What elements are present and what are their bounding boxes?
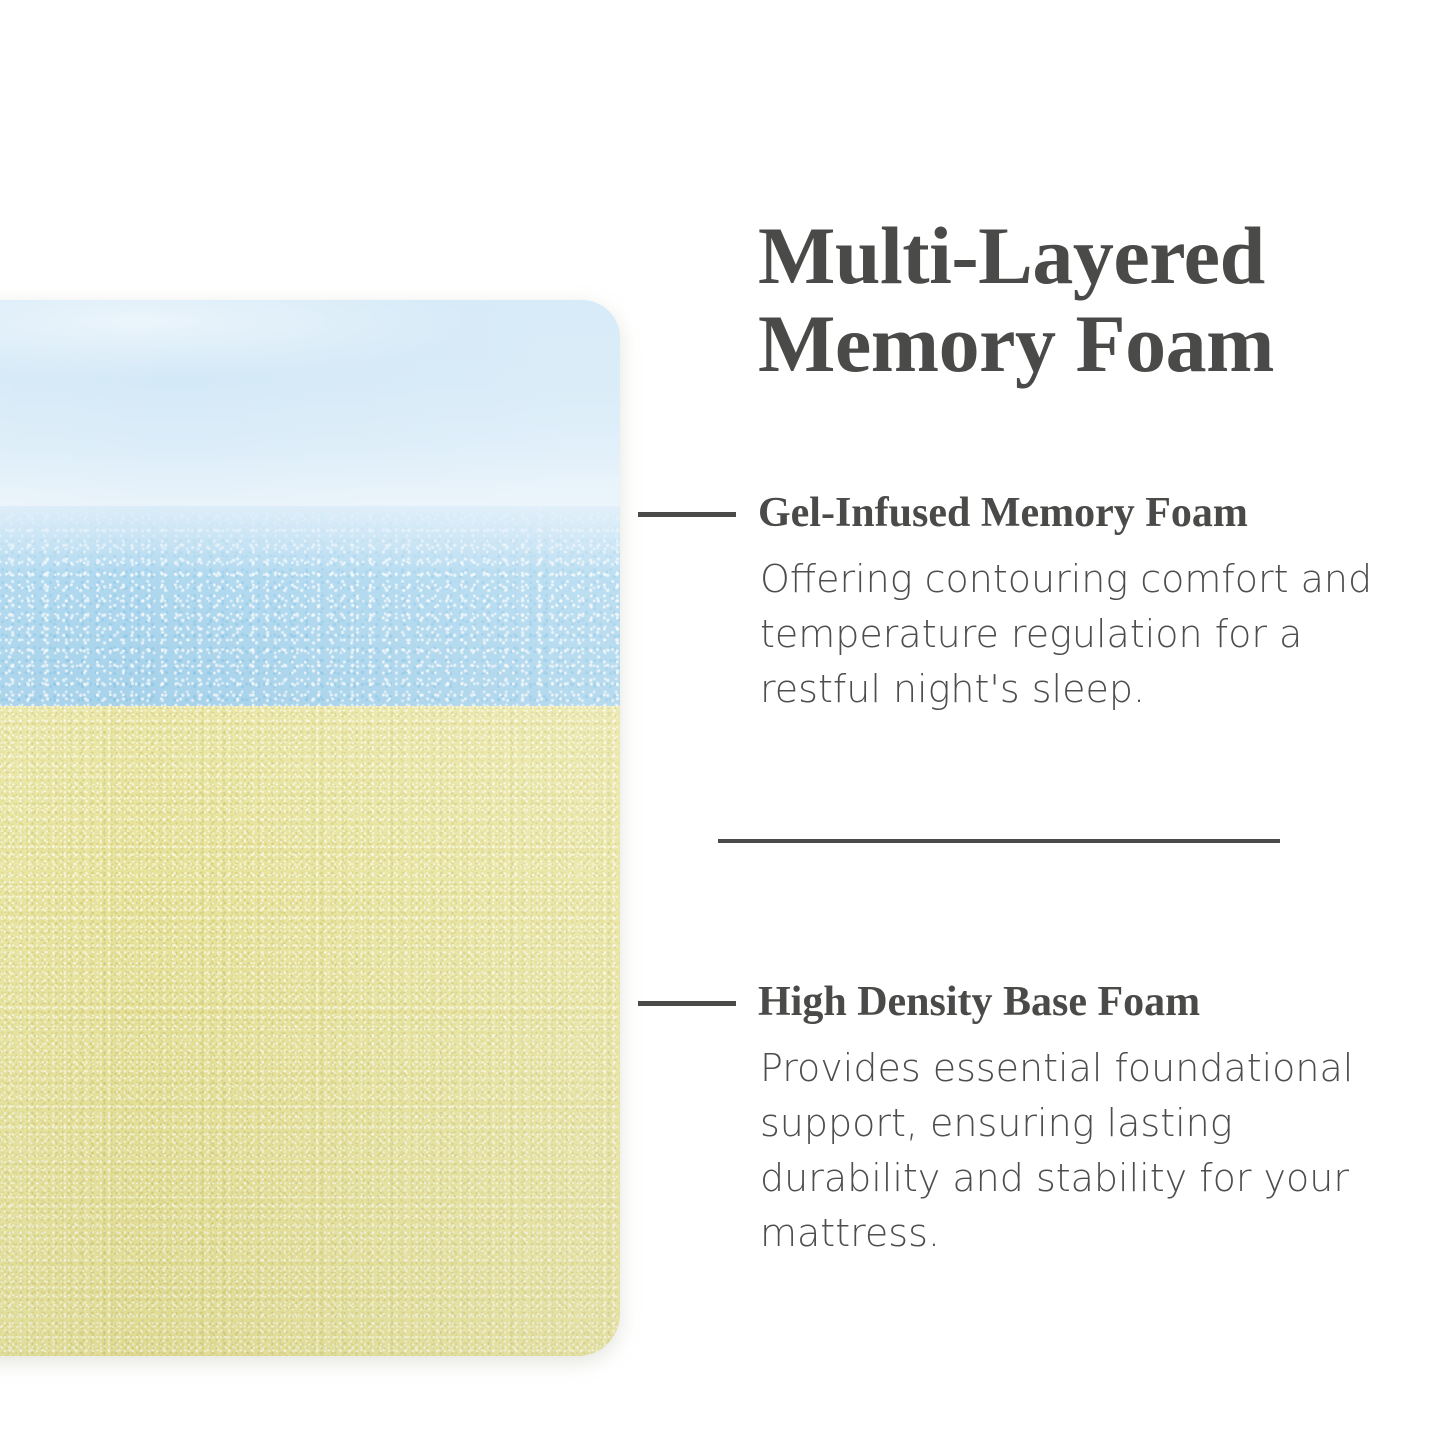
feature-description: Offering contouring comfort and temperat… xyxy=(760,552,1418,717)
page-title-line-1: Multi-Layered xyxy=(758,212,1398,300)
section-divider xyxy=(718,839,1280,843)
memory-foam-block-image xyxy=(0,300,620,1356)
feature-title: High Density Base Foam xyxy=(758,979,1200,1025)
feature-high-density-base-foam: High Density Base Foam Provides essentia… xyxy=(638,979,1418,1299)
high-density-base-foam-layer xyxy=(0,706,620,1356)
leader-dash-icon xyxy=(638,1001,736,1006)
feature-description: Provides essential foundational support,… xyxy=(760,1041,1418,1261)
feature-heading-row: High Density Base Foam xyxy=(638,979,1418,1029)
feature-gel-infused-memory-foam: Gel-Infused Memory Foam Offering contour… xyxy=(638,490,1418,755)
infographic-canvas: Multi-Layered Memory Foam Gel-Infused Me… xyxy=(0,0,1445,1445)
gel-infused-memory-foam-layer xyxy=(0,506,620,706)
feature-title: Gel-Infused Memory Foam xyxy=(758,490,1248,536)
page-title: Multi-Layered Memory Foam xyxy=(758,212,1398,388)
leader-dash-icon xyxy=(638,512,736,517)
foam-top-surface-layer xyxy=(0,300,620,506)
feature-heading-row: Gel-Infused Memory Foam xyxy=(638,490,1418,540)
page-title-line-2: Memory Foam xyxy=(758,300,1398,388)
